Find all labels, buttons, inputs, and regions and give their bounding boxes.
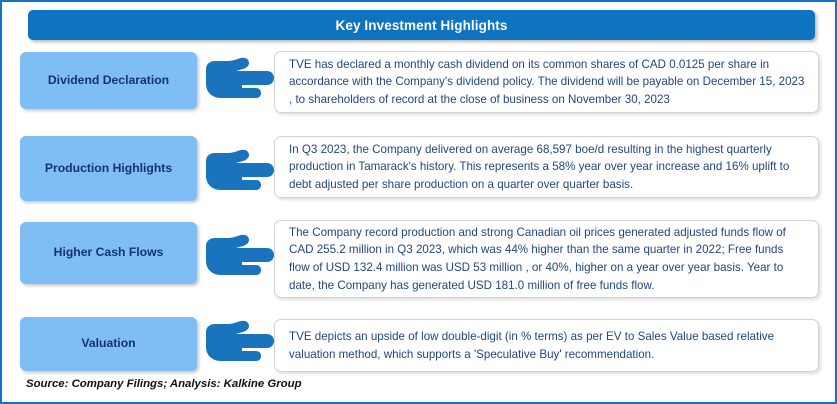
pointing-hand-right-icon: [198, 147, 284, 199]
pointing-hand-right-icon: [198, 318, 284, 370]
highlight-text: TVE depicts an upside of low double-digi…: [289, 328, 805, 363]
highlight-label-text: Dividend Declaration: [48, 73, 169, 88]
highlight-row: Production Highlights In Q3 2023, the Co…: [2, 133, 837, 205]
source-note: Source: Company Filings; Analysis: Kalki…: [26, 378, 302, 390]
highlight-label-valuation[interactable]: Valuation: [20, 317, 197, 371]
highlight-label-production-highlights[interactable]: Production Highlights: [20, 136, 197, 201]
highlight-label-text: Valuation: [81, 336, 135, 351]
pointing-hand-right-icon: [198, 55, 284, 107]
highlight-text-card: The Company record production and strong…: [274, 220, 819, 298]
key-investment-highlights-infographic: Key Investment Highlights Dividend Decla…: [0, 0, 837, 404]
highlight-label-text: Production Highlights: [45, 161, 172, 176]
header-banner: Key Investment Highlights: [28, 10, 815, 40]
highlight-label-higher-cash-flows[interactable]: Higher Cash Flows: [20, 222, 197, 284]
highlight-text-card: TVE depicts an upside of low double-digi…: [274, 319, 819, 372]
highlight-row: Valuation TVE depicts an upside of low d…: [2, 314, 837, 376]
highlight-text-card: TVE has declared a monthly cash dividend…: [274, 51, 819, 113]
highlight-text: TVE has declared a monthly cash dividend…: [289, 56, 805, 109]
highlight-label-text: Higher Cash Flows: [54, 245, 164, 260]
highlight-text: In Q3 2023, the Company delivered on ave…: [289, 141, 805, 194]
highlight-row: Dividend Declaration TVE has declared a …: [2, 49, 837, 117]
highlight-label-dividend-declaration[interactable]: Dividend Declaration: [20, 52, 197, 109]
highlight-text-card: In Q3 2023, the Company delivered on ave…: [274, 136, 819, 198]
highlight-text: The Company record production and strong…: [289, 224, 805, 294]
page-title: Key Investment Highlights: [335, 18, 507, 33]
pointing-hand-right-icon: [198, 232, 284, 284]
highlight-row: Higher Cash Flows The Company record pro…: [2, 218, 837, 298]
